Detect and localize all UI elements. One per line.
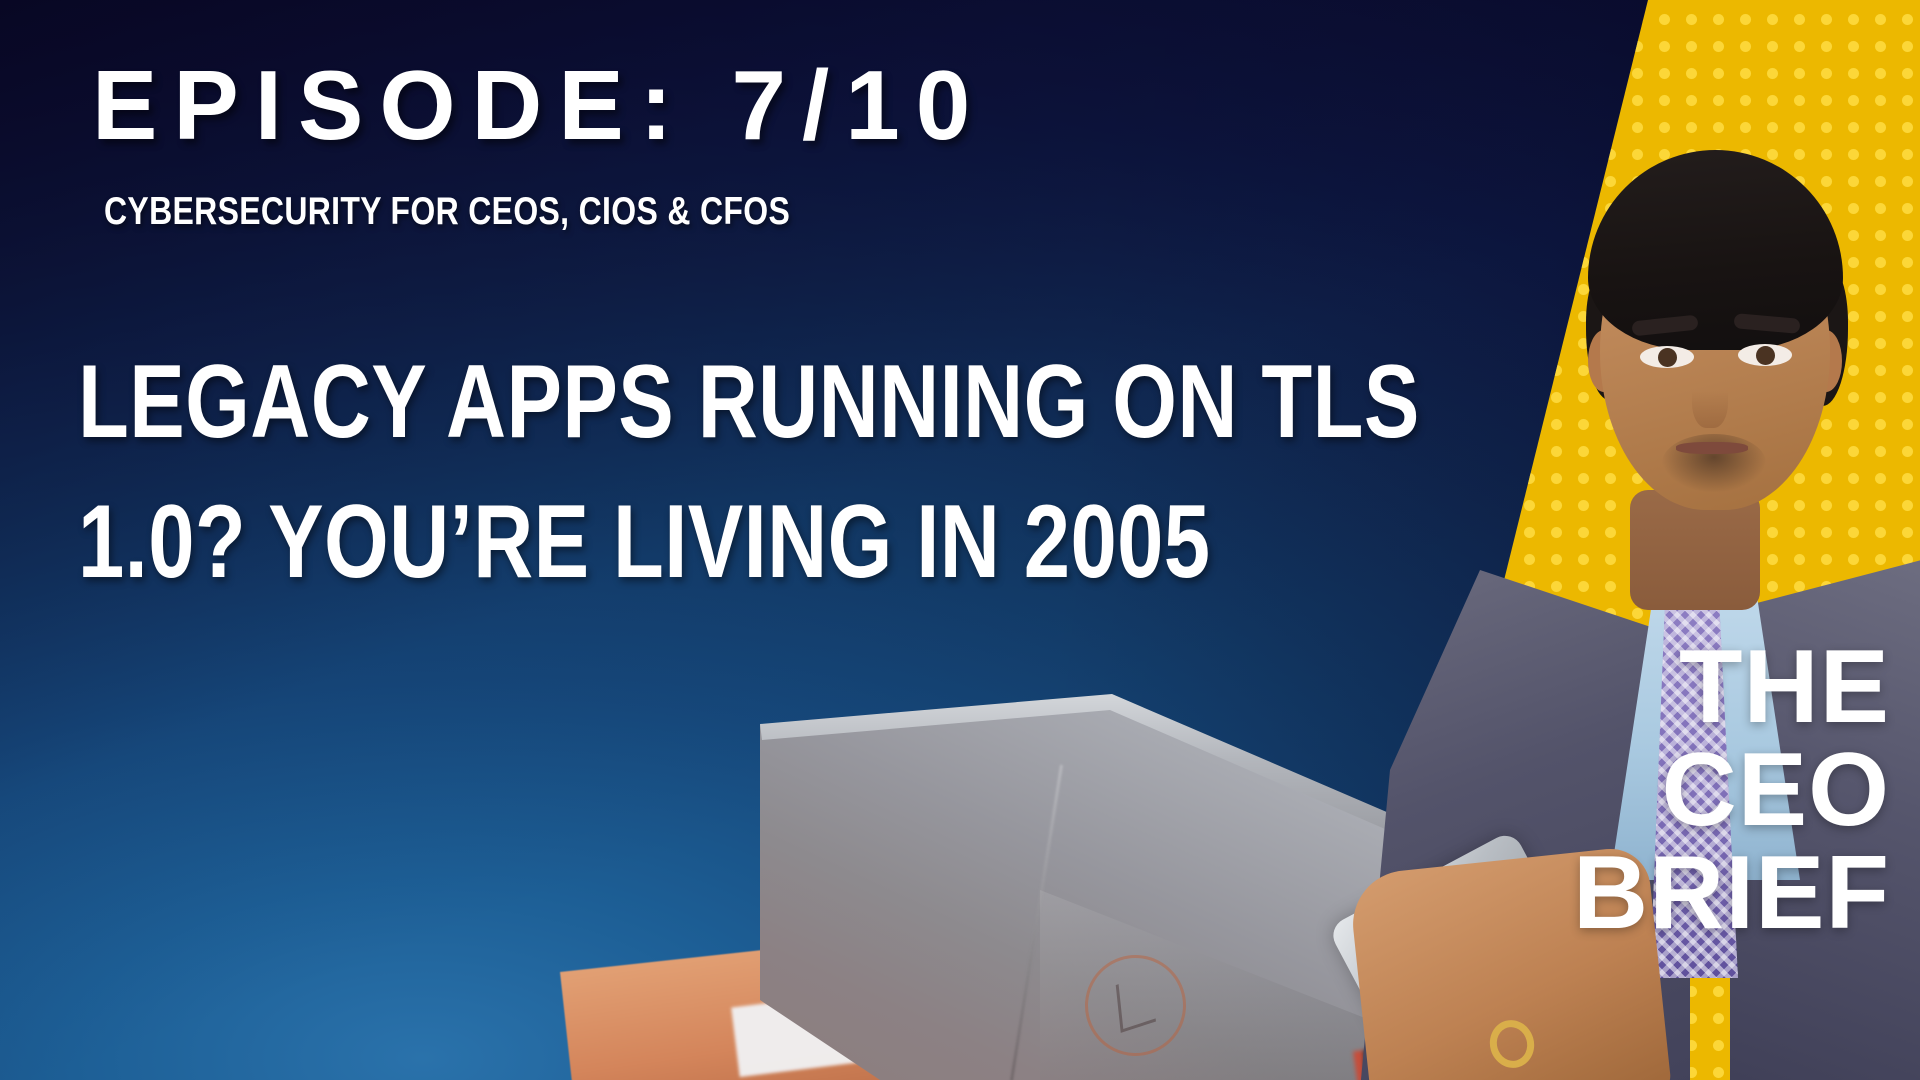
text-layer: EPISODE: 7/10 CYBERSECURITY FOR CEOS, CI… bbox=[0, 0, 1920, 1080]
brand-wordmark: THE CEO BRIEF bbox=[1573, 636, 1890, 945]
headline-line-1: LEGACY APPS RUNNING ON TLS bbox=[78, 332, 1238, 472]
headline: LEGACY APPS RUNNING ON TLS 1.0? YOU’RE L… bbox=[78, 332, 1238, 613]
brand-line-ceo: CEO bbox=[1573, 739, 1890, 842]
episode-label: EPISODE: 7/10 bbox=[92, 56, 986, 154]
thumbnail-canvas: EPISODE: 7/10 CYBERSECURITY FOR CEOS, CI… bbox=[0, 0, 1920, 1080]
series-tagline: CYBERSECURITY FOR CEOS, CIOS & CFOS bbox=[104, 192, 790, 231]
headline-line-2: 1.0? YOU’RE LIVING IN 2005 bbox=[78, 472, 1238, 612]
brand-line-the: THE bbox=[1573, 636, 1890, 739]
brand-line-brief: BRIEF bbox=[1573, 842, 1890, 945]
